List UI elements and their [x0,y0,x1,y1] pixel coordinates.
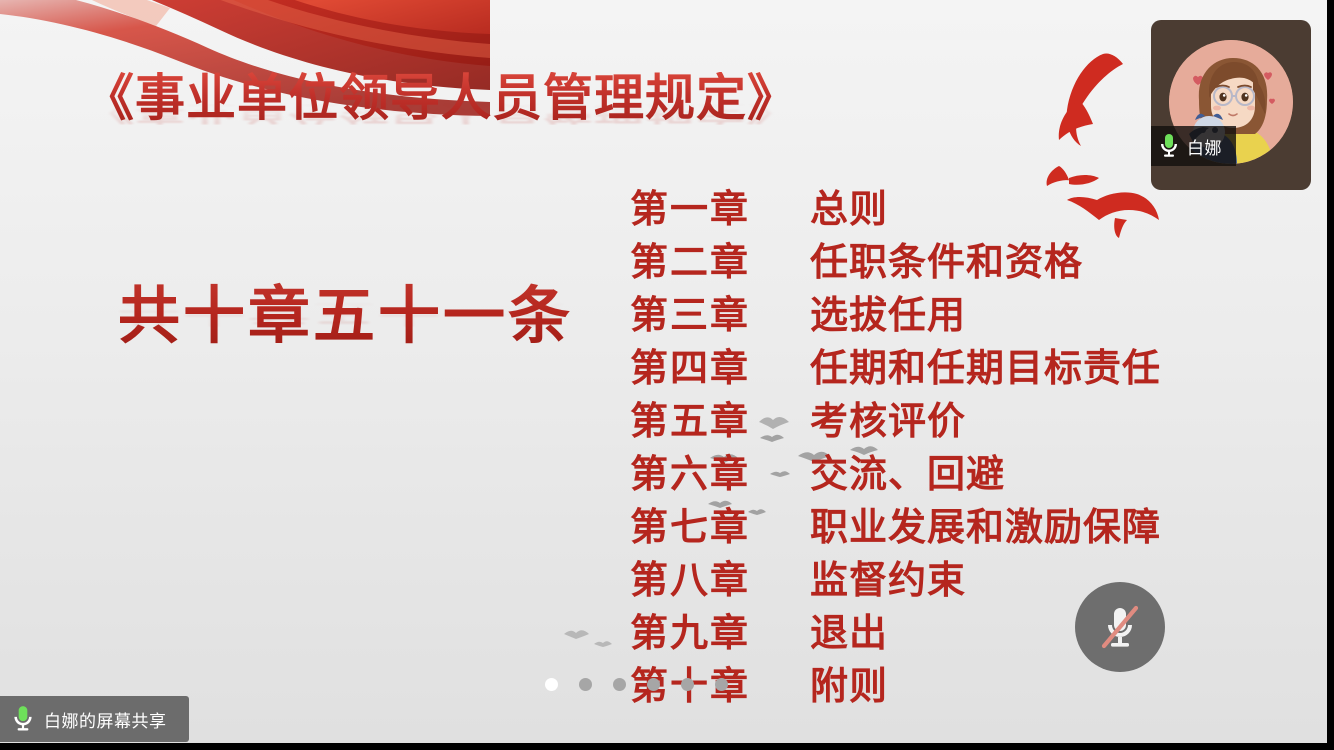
chapter-number: 第二章 [630,235,810,288]
slide-dot-1[interactable] [545,678,558,691]
microphone-icon [1159,133,1179,159]
slide-dot-3[interactable] [613,678,626,691]
mute-indicator-button[interactable] [1075,582,1165,672]
chapter-number: 第三章 [630,288,810,341]
chapter-row: 第九章 退出 [630,606,1270,659]
screen-share-stage: 《事业单位领导人员管理规定》 《事业单位领导人员管理规定》 共十章五十一条 共十… [0,0,1334,750]
chapter-row: 第六章 交流、回避 [630,447,1270,500]
chapter-title: 职业发展和激励保障 [810,500,1161,553]
chapter-number: 第八章 [630,553,810,606]
chapter-title: 任职条件和资格 [810,235,1083,288]
chapter-title: 交流、回避 [810,447,1005,500]
slide-dot-6[interactable] [715,678,728,691]
screen-share-badge[interactable]: 白娜的屏幕共享 [0,696,189,742]
chapter-row: 第二章 任职条件和资格 [630,235,1270,288]
chapter-row: 第七章 职业发展和激励保障 [630,500,1270,553]
chapter-title: 选拔任用 [810,288,966,341]
microphone-icon [12,705,34,733]
page-title: 《事业单位领导人员管理规定》 [84,72,798,125]
chapter-title: 总则 [810,182,888,235]
chapter-number: 第五章 [630,394,810,447]
chapter-number: 第九章 [630,606,810,659]
chapter-number: 第六章 [630,447,810,500]
chapter-number: 第四章 [630,341,810,394]
chapter-title: 考核评价 [810,394,966,447]
slide-pagination[interactable] [545,678,728,691]
headline: 共十章五十一条 [118,265,573,355]
gray-bird-small-icon [560,620,620,660]
chapter-number: 第一章 [630,182,810,235]
chapter-title: 退出 [810,606,888,659]
chapter-title: 监督约束 [810,553,966,606]
chapter-row: 第五章 考核评价 [630,394,1270,447]
chapter-row: 第八章 监督约束 [630,553,1270,606]
chapter-title: 任期和任期目标责任 [810,341,1161,394]
participant-nameplate: 白娜 [1151,126,1236,166]
chapter-row: 第三章 选拔任用 [630,288,1270,341]
chapter-row: 第四章 任期和任期目标责任 [630,341,1270,394]
participant-video-tile[interactable]: 白娜 [1151,20,1311,190]
chapter-number: 第七章 [630,500,810,553]
participant-name: 白娜 [1187,134,1222,159]
chapter-title: 附则 [810,659,888,712]
chapter-list: 第一章 总则 第二章 任职条件和资格 第三章 选拔任用 第四章 任期和任期目标责… [630,182,1270,712]
slide-dot-4[interactable] [647,678,660,691]
microphone-muted-icon [1094,601,1146,653]
slide-dot-2[interactable] [579,678,592,691]
screen-share-label: 白娜的屏幕共享 [44,707,167,732]
slide-dot-5[interactable] [681,678,694,691]
